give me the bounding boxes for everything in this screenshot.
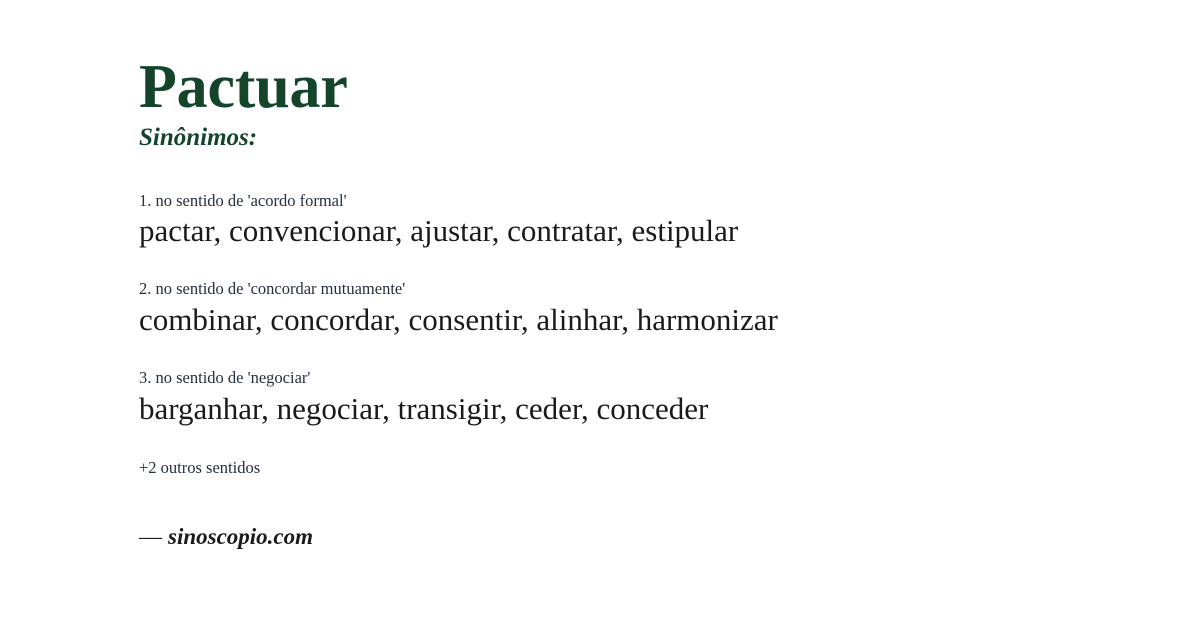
sense-synonyms: pactar, convencionar, ajustar, contratar… <box>139 212 1140 249</box>
card-content: Pactuar Sinônimos: 1. no sentido de 'aco… <box>139 56 1140 551</box>
sense-label: 1. no sentido de 'acordo formal' <box>139 191 1140 211</box>
sense-synonyms: barganhar, negociar, transigir, ceder, c… <box>139 390 1140 427</box>
sense-entry: 3. no sentido de 'negociar' barganhar, n… <box>139 368 1140 427</box>
synonym-card: Pactuar Sinônimos: 1. no sentido de 'aco… <box>0 0 1200 628</box>
em-dash-glyph: — <box>139 524 168 549</box>
sense-synonyms: combinar, concordar, consentir, alinhar,… <box>139 301 1140 338</box>
page-title: Pactuar <box>139 56 1140 118</box>
sense-label: 3. no sentido de 'negociar' <box>139 368 1140 388</box>
source-name: sinoscopio.com <box>168 524 313 549</box>
sense-entry: 1. no sentido de 'acordo formal' pactar,… <box>139 191 1140 250</box>
sense-entry: 2. no sentido de 'concordar mutuamente' … <box>139 279 1140 338</box>
more-senses-note: +2 outros sentidos <box>139 458 1140 478</box>
sense-list: 1. no sentido de 'acordo formal' pactar,… <box>139 191 1140 428</box>
sense-label: 2. no sentido de 'concordar mutuamente' <box>139 279 1140 299</box>
section-subtitle: Sinônimos: <box>139 124 1140 152</box>
source-attribution: —sinoscopio.com <box>139 523 1140 551</box>
